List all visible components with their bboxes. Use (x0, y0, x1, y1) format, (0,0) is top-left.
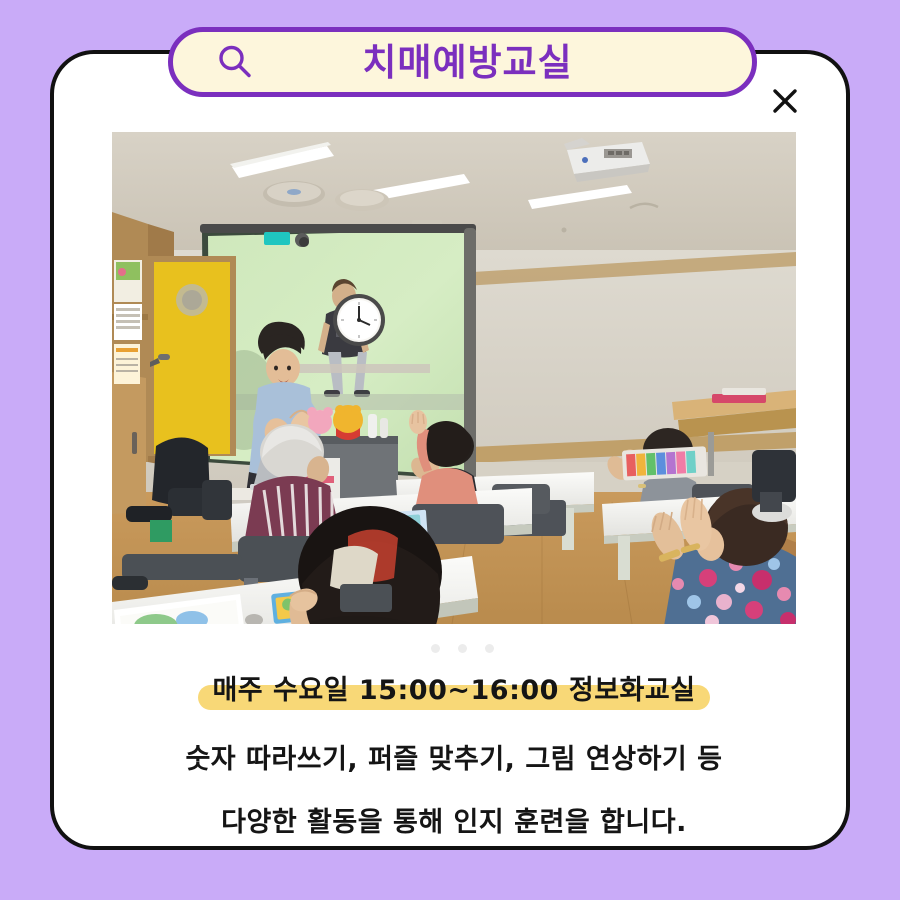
caption-block: 매주 수요일 15:00~16:00 정보화교실 숫자 따라쓰기, 퍼즐 맞추기… (54, 674, 854, 836)
carousel-dot-3[interactable] (485, 644, 494, 653)
description-line-2: 다양한 활동을 통해 인지 훈련을 합니다. (54, 809, 854, 836)
search-icon[interactable] (215, 42, 255, 82)
description-line-1: 숫자 따라쓰기, 퍼즐 맞추기, 그림 연상하기 등 (54, 746, 854, 773)
close-button[interactable] (768, 84, 802, 118)
title-pill: 치매예방교실 (168, 27, 757, 97)
schedule-highlight: 매주 수요일 15:00~16:00 정보화교실 (198, 674, 709, 708)
carousel-dot-2[interactable] (458, 644, 467, 653)
carousel-dots[interactable] (54, 644, 846, 653)
schedule-text: 매주 수요일 15:00~16:00 정보화교실 (212, 675, 695, 706)
carousel-dot-1[interactable] (431, 644, 440, 653)
page-title: 치매예방교실 (173, 44, 752, 81)
class-photo[interactable] (112, 132, 796, 624)
info-card: 매주 수요일 15:00~16:00 정보화교실 숫자 따라쓰기, 퍼즐 맞추기… (50, 50, 850, 850)
